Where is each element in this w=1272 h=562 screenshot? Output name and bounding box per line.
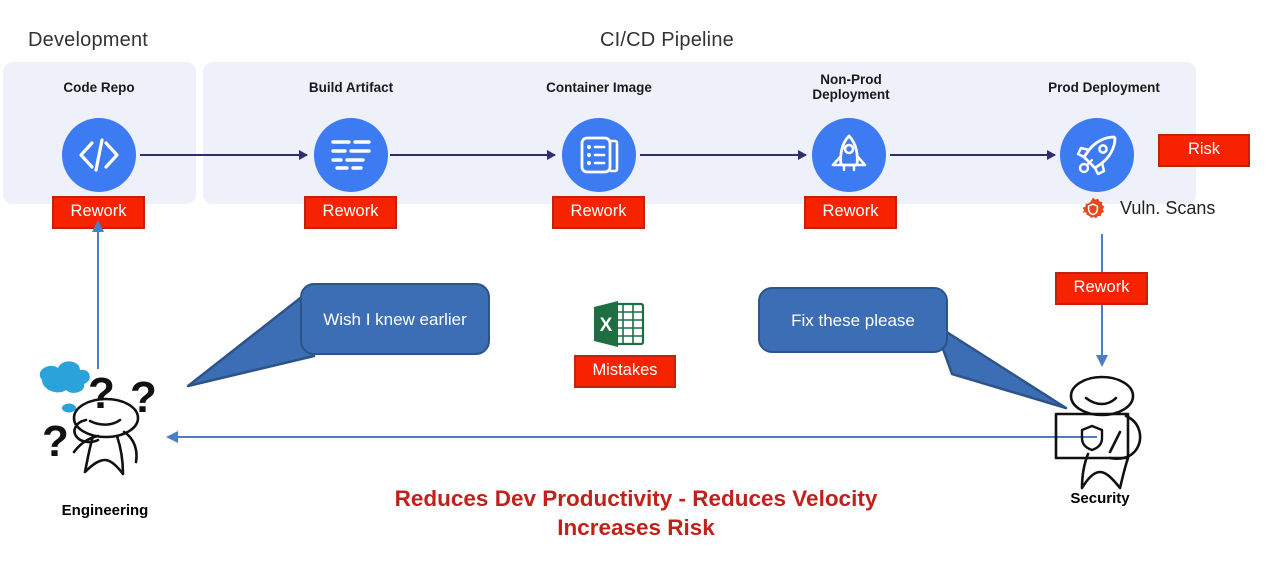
engineering-rework-arrow — [97, 231, 99, 369]
footer-line-2: Increases Risk — [236, 513, 1036, 542]
code-brackets-icon — [75, 135, 123, 175]
confused-person-icon: ? ? ? — [20, 358, 190, 488]
stage-label-container-image: Container Image — [529, 80, 669, 95]
pipeline-arrow-3 — [640, 154, 806, 156]
excel-spreadsheet-icon: X — [592, 298, 648, 355]
badge-rework-container-image[interactable]: Rework — [552, 196, 645, 229]
svg-text:X: X — [600, 315, 613, 336]
stage-label-prod-deployment: Prod Deployment — [1029, 80, 1179, 95]
badge-risk[interactable]: Risk — [1158, 134, 1250, 167]
footer-line-1: Reduces Dev Productivity - Reduces Veloc… — [236, 484, 1036, 513]
security-to-engineering-arrow — [177, 436, 1097, 438]
rocket-upright-icon — [827, 132, 871, 178]
zone-title-development: Development — [28, 29, 148, 52]
node-container-image[interactable] — [562, 118, 636, 192]
node-build-artifact[interactable] — [314, 118, 388, 192]
badge-rework-non-prod[interactable]: Rework — [804, 196, 897, 229]
persona-label-security: Security — [1030, 490, 1170, 507]
pipeline-arrow-1 — [140, 154, 307, 156]
stage-label-code-repo: Code Repo — [29, 80, 169, 95]
security-person-icon — [1040, 370, 1170, 490]
zone-title-cicd: CI/CD Pipeline — [600, 29, 734, 52]
gear-shield-icon — [1079, 196, 1107, 229]
document-list-icon — [577, 133, 621, 177]
svg-text:?: ? — [42, 417, 69, 466]
stage-label-build-artifact: Build Artifact — [281, 80, 421, 95]
node-code-repo[interactable] — [62, 118, 136, 192]
vuln-scans-label: Vuln. Scans — [1120, 198, 1215, 219]
pipeline-arrow-4 — [890, 154, 1055, 156]
dev-bubble-tail — [186, 290, 316, 390]
diagram-canvas: Development CI/CD Pipeline Code Repo Bui… — [0, 0, 1272, 562]
stage-label-non-prod-deployment: Non-Prod Deployment — [781, 72, 921, 102]
badge-rework-build-artifact[interactable]: Rework — [304, 196, 397, 229]
node-prod-deployment[interactable] — [1060, 118, 1134, 192]
sec-bubble[interactable]: Fix these please — [758, 287, 948, 353]
pipeline-arrow-2 — [390, 154, 555, 156]
sec-bubble-text: Fix these please — [791, 309, 915, 332]
svg-text:?: ? — [130, 373, 157, 422]
badge-rework-prod[interactable]: Rework — [1055, 272, 1148, 305]
dev-bubble-text: Wish I knew earlier — [323, 308, 467, 331]
dev-bubble[interactable]: Wish I knew earlier — [300, 283, 490, 355]
svg-text:?: ? — [88, 369, 115, 418]
persona-label-engineering: Engineering — [25, 502, 185, 519]
build-lines-icon — [329, 137, 373, 173]
badge-mistakes[interactable]: Mistakes — [574, 355, 676, 388]
rocket-diagonal-icon — [1074, 132, 1120, 178]
footer-message: Reduces Dev Productivity - Reduces Veloc… — [236, 484, 1036, 542]
node-non-prod-deployment[interactable] — [812, 118, 886, 192]
